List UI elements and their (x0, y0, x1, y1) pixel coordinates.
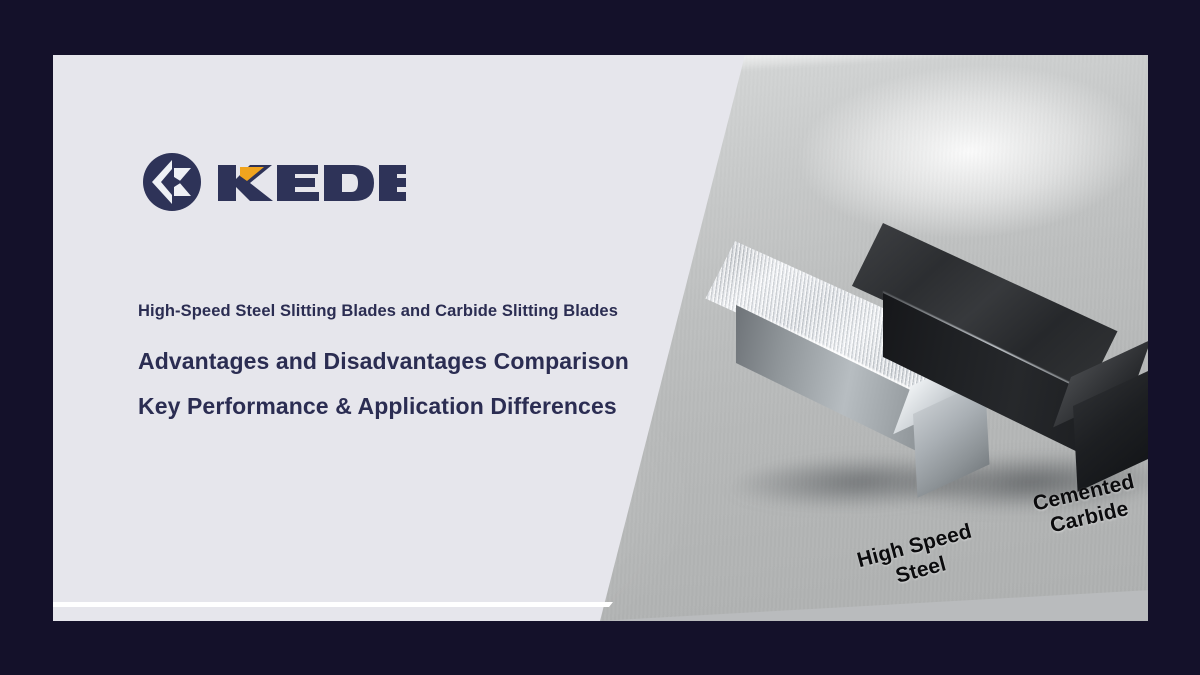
slide-headline-1: Advantages and Disadvantages Comparison (138, 348, 629, 375)
slide-root: High Speed Steel Cemented Carbide (0, 0, 1200, 675)
slide-card: High Speed Steel Cemented Carbide (53, 55, 1148, 621)
cemented-carbide-block (883, 223, 1148, 513)
kedel-circle-emblem-icon (141, 151, 203, 213)
brand-logo (141, 151, 406, 213)
slide-headline-2: Key Performance & Application Difference… (138, 393, 617, 420)
kedel-wordmark-icon (214, 159, 406, 205)
slide-kicker: High-Speed Steel Slitting Blades and Car… (138, 302, 618, 321)
